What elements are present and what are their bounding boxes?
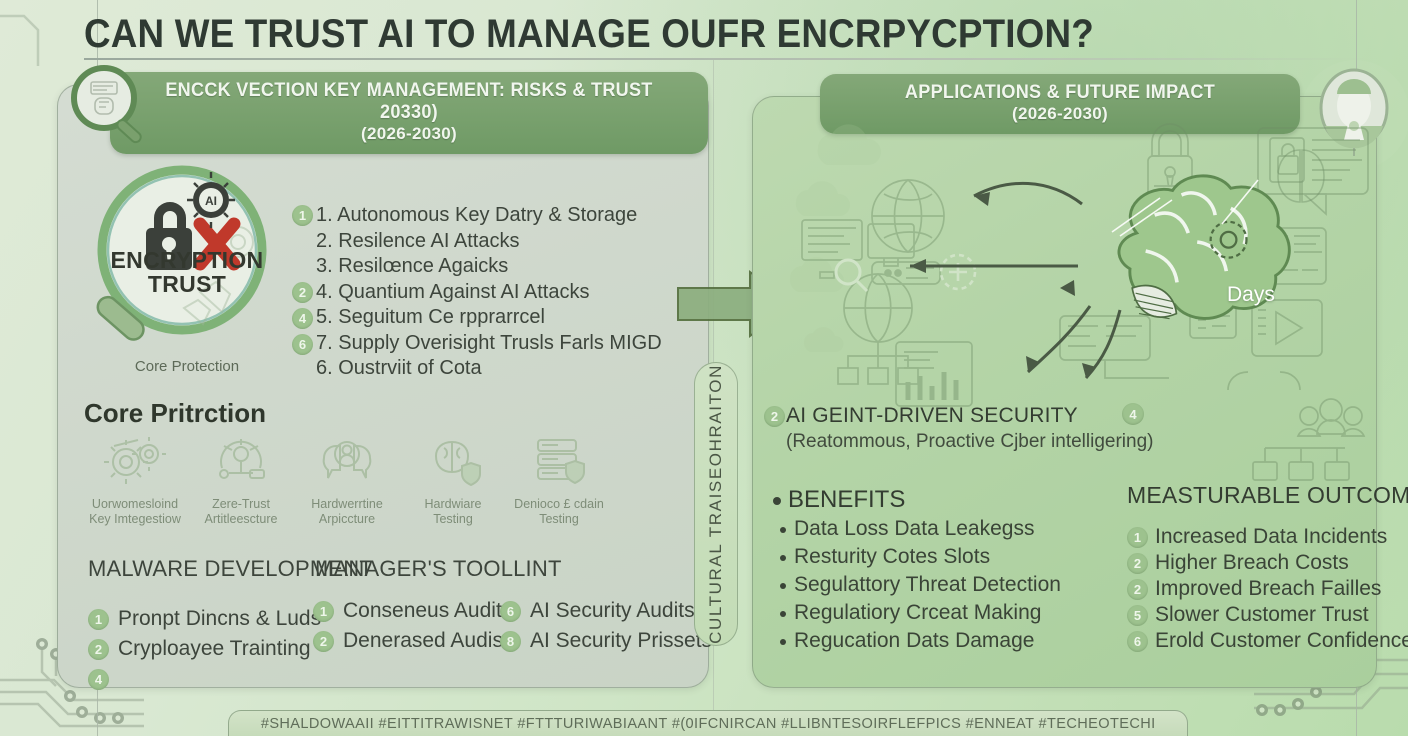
item-label: Cryploayee Trainting: [118, 637, 311, 660]
item-badge: 6: [500, 601, 521, 622]
risk-item: 2. Resilence AI Attacks: [316, 229, 696, 255]
risk-item: 3. Resilœnce Agaicks: [316, 254, 696, 280]
caption-line1: Hardwerrtine: [311, 497, 383, 511]
brain-shield-icon: [422, 432, 484, 486]
risk-badge: 1: [292, 205, 313, 226]
gears-icon: [104, 432, 166, 486]
outcome-label: Erold Customer Confidence: [1155, 629, 1408, 652]
chat-user-icon: [316, 432, 378, 486]
managers-toolkit-list: 1 Conseneus Audit 2 Denerased Audis: [313, 596, 503, 656]
item-badge: 8: [500, 631, 521, 652]
measurable-outcomes-block: MEASTURABLE OUTCOMES 1 Increased Data In…: [1127, 482, 1377, 654]
caption-line2: Artitleescture: [205, 512, 278, 526]
outcome-item: 5 Slower Customer Trust: [1127, 602, 1377, 628]
outcome-item: 2 Improved Breach Failles: [1127, 576, 1377, 602]
benefit-label: Regulatiory Crceat Making: [794, 601, 1041, 624]
right-header-line1: APPLICATIONS & FUTURE IMPACT: [849, 82, 1271, 104]
outcome-label: Higher Breach Costs: [1155, 551, 1349, 574]
outcome-label: Slower Customer Trust: [1155, 603, 1369, 626]
days-label: Days: [1227, 283, 1275, 307]
item-label: AI Security Prissets: [530, 629, 712, 652]
people-network-icon: [1245, 390, 1375, 500]
list-item: 4: [88, 664, 321, 694]
ai-security-list: 6 AI Security Audits 8 AI Security Priss…: [500, 596, 712, 656]
arrow-heads: [910, 192, 1096, 378]
risk-item: 7. Supply Overisight Trusls Farls MIGD: [316, 331, 696, 357]
hashtag-text: #SHALDOWAAII #EITTITRAWISNET #FTTTURIWAB…: [261, 715, 1156, 732]
risk-list: 1 2 4 6 1. Autonomous Key Datry & Storag…: [316, 203, 696, 382]
caption-line2: Arpiccture: [319, 512, 375, 526]
encryption-trust-magnifier: AI: [88, 160, 284, 356]
risk-badge: 4: [292, 308, 313, 329]
caption-line1: Denioco £ cdain: [514, 497, 604, 511]
core-icon-caption: Uorwomesloind Key Imtegestiow: [82, 497, 188, 527]
risk-item: 6. Oustrviit of Cota: [316, 356, 696, 382]
core-icon-cell: Zere-Trust Artitleescture: [188, 432, 294, 527]
core-protection-icons: Uorwomesloind Key Imtegestiow Zere-Trust…: [82, 432, 612, 527]
item-badge: 2: [88, 639, 109, 660]
title-underline: [84, 58, 1372, 60]
outcome-badge: 6: [1127, 631, 1148, 652]
benefit-item: Resturity Cotes Slots: [766, 543, 1096, 571]
outcome-label: Increased Data Incidents: [1155, 525, 1387, 548]
caption-line2: Key Imtegestiow: [89, 512, 181, 526]
bullet-dot: [780, 611, 786, 617]
outcome-badge: 2: [1127, 553, 1148, 574]
benefit-item: Data Loss Data Leakegss: [766, 515, 1096, 543]
trust-caption: Core Protection: [96, 358, 278, 375]
item-label: Conseneus Audit: [343, 599, 502, 622]
section-subheading: (Reatommous, Proactive Cјber intelligeri…: [786, 431, 1146, 453]
ai-driven-security-block: 2 AI GEINT-DRIVEN SECURITY (Reatommous, …: [786, 404, 1146, 453]
magnifier-document-icon: [64, 62, 150, 148]
database-shield-icon: [528, 432, 590, 486]
managers-toolkit-heading: MANAGER'S TOOLLINT: [315, 556, 562, 582]
list-item: 1 Pronpt Dincns & Luds: [88, 604, 321, 634]
bullet-dot: [773, 497, 781, 505]
left-header-line2: (2026-2030): [128, 124, 690, 144]
outcome-item: 6 Erold Customer Confidence: [1127, 628, 1377, 654]
flow-arrows: [910, 183, 1120, 378]
core-icon-cell: Hardwiare Testing: [400, 432, 506, 527]
list-item: 2 Denerased Audis: [313, 626, 503, 656]
item-label: AI Security Audits: [530, 599, 695, 622]
risk-item: 5. Seguitum Ce rpprarrcel: [316, 305, 696, 331]
caption-line2: Testing: [433, 512, 473, 526]
item-badge: 1: [88, 609, 109, 630]
benefit-item: Regucation Dats Damage: [766, 627, 1096, 655]
ribbon-text: CULTURAL TRAISEOHRAITON: [706, 364, 726, 644]
bullet-dot: [780, 583, 786, 589]
hashtag-bar: #SHALDOWAAII #EITTITRAWISNET #FTTTURIWAB…: [228, 710, 1188, 736]
item-label: Pronpt Dincns & Luds: [118, 607, 321, 630]
item-badge: 4: [88, 669, 109, 690]
item-badge: 2: [313, 631, 334, 652]
left-panel-header: ENCCK VECTION KEY MANAGEMENT: RISKS & TR…: [110, 72, 708, 154]
caption-line1: Uorwomesloind: [92, 497, 178, 511]
svg-text:AI: AI: [205, 194, 217, 208]
benefit-item: Regulatiory Crceat Making: [766, 599, 1096, 627]
risk-item: 4. Quantium Against AI Attacks: [316, 280, 696, 306]
core-icon-cell: Hardwerrtine Arpiccture: [294, 432, 400, 527]
section-heading: AI GEINT-DRIVEN SECURITY: [786, 404, 1146, 428]
core-icon-caption: Zere-Trust Artitleescture: [188, 497, 294, 527]
bullet-dot: [780, 555, 786, 561]
cultural-transformation-label: CULTURAL TRAISEOHRAITON: [694, 362, 738, 646]
risk-item: 1. Autonomous Key Datry & Storage: [316, 203, 696, 229]
section-badge: 2: [764, 406, 785, 427]
page-title: CAN WE TRUST AI TO MANAGE OUFR ENCRPYCPT…: [84, 12, 1225, 57]
caption-line1: Hardwiare: [425, 497, 482, 511]
risk-badge: 2: [292, 282, 313, 303]
caption-line1: Zere-Trust: [212, 497, 270, 511]
outcome-badge: 1: [1127, 527, 1148, 548]
list-item: 1 Conseneus Audit: [313, 596, 503, 626]
malware-development-list: 1 Pronpt Dincns & Luds 2 Cryploayee Trai…: [88, 604, 321, 694]
item-label: Denerased Audis: [343, 629, 503, 652]
outcome-item: 1 Increased Data Incidents: [1127, 524, 1377, 550]
core-icon-cell: Denioco £ cdain Testing: [506, 432, 612, 527]
benefit-item: Segulattory Threat Detection: [766, 571, 1096, 599]
ai-brain-illustration: [760, 120, 1372, 410]
network-icon: [210, 432, 272, 486]
benefit-label: Regucation Dats Damage: [794, 629, 1034, 652]
benefits-heading-label: BENEFITS: [788, 486, 905, 513]
bullet-dot: [780, 639, 786, 645]
caption-line2: Testing: [539, 512, 579, 526]
outcome-item: 2 Higher Breach Costs: [1127, 550, 1377, 576]
core-icon-caption: Hardwerrtine Arpiccture: [294, 497, 400, 527]
item-badge: 1: [313, 601, 334, 622]
outcome-badge: 2: [1127, 579, 1148, 600]
benefits-heading: BENEFITS: [766, 485, 1096, 515]
benefit-label: Segulattory Threat Detection: [794, 573, 1061, 596]
list-item: 2 Cryploayee Trainting: [88, 634, 321, 664]
circuit-decoration-top-left: [0, 0, 54, 66]
infographic-canvas: CAN WE TRUST AI TO MANAGE OUFR ENCRPYCPT…: [0, 0, 1408, 736]
core-icon-caption: Hardwiare Testing: [400, 497, 506, 527]
list-item: 8 AI Security Prissets: [500, 626, 712, 656]
benefits-block: BENEFITS Data Loss Data Leakegss Resturi…: [766, 485, 1096, 655]
benefit-label: Data Loss Data Leakegss: [794, 517, 1034, 540]
outcome-label: Improved Breach Failles: [1155, 577, 1381, 600]
core-protection-heading: Core Pritrction: [84, 398, 266, 429]
benefit-label: Resturity Cotes Slots: [794, 545, 990, 568]
risk-badge: 6: [292, 334, 313, 355]
left-header-line1: ENCCK VECTION KEY MANAGEMENT: RISKS & TR…: [142, 80, 676, 124]
list-item: 6 AI Security Audits: [500, 596, 712, 626]
bullet-dot: [780, 527, 786, 533]
core-icon-caption: Denioco £ cdain Testing: [506, 497, 612, 527]
core-icon-cell: Uorwomesloind Key Imtegestiow: [82, 432, 188, 527]
outcome-badge: 5: [1127, 605, 1148, 626]
